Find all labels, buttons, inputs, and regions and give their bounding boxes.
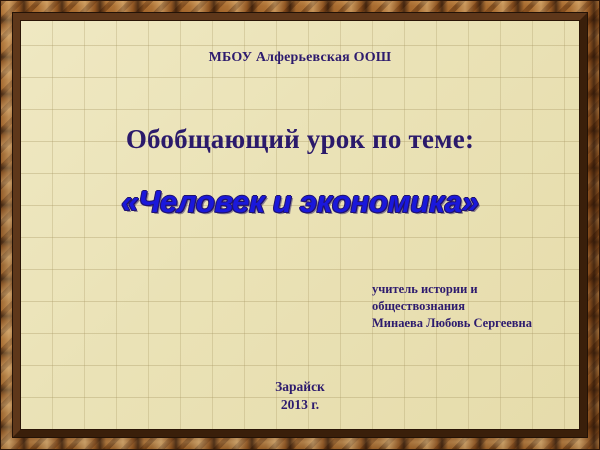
teacher-credits: учитель истории и обществознания Минаева… — [372, 281, 532, 332]
teacher-name: Минаева Любовь Сергеевна — [372, 315, 532, 332]
lesson-title: Обобщающий урок по теме: — [21, 124, 579, 155]
year-label: 2013 г. — [21, 396, 579, 414]
lesson-subtitle: «Человек и экономика» — [21, 184, 579, 220]
slide-canvas: МБОУ Алферьевская ООШ Обобщающий урок по… — [21, 21, 579, 429]
city-name: Зарайск — [275, 379, 325, 394]
presentation-slide: МБОУ Алферьевская ООШ Обобщающий урок по… — [0, 0, 600, 450]
school-name: МБОУ Алферьевская ООШ — [21, 50, 579, 66]
teacher-role-line-1: учитель истории и — [372, 281, 532, 298]
teacher-role-line-2: обществознания — [372, 298, 532, 315]
place-and-year: Зарайск 2013 г. — [21, 378, 579, 414]
slide-content: МБОУ Алферьевская ООШ Обобщающий урок по… — [21, 21, 579, 429]
